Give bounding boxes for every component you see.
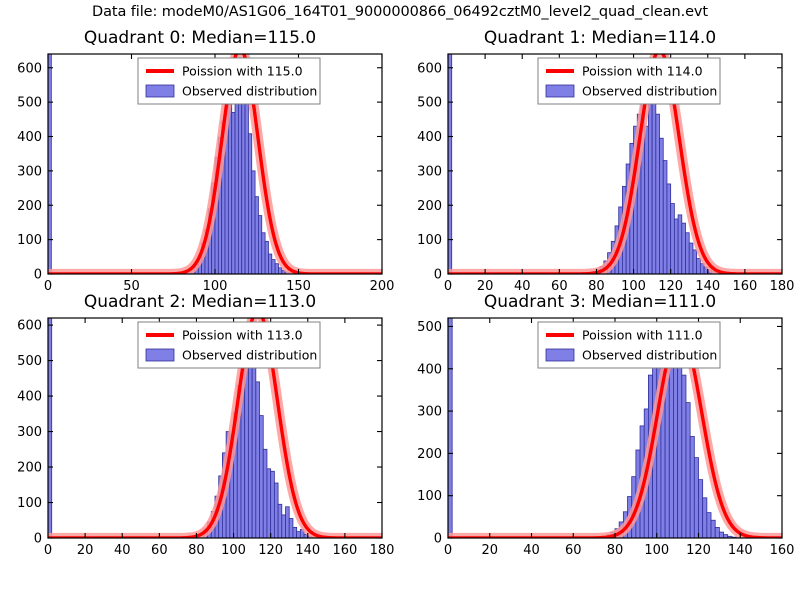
legend[interactable]: Poission with 114.0Observed distribution (538, 58, 720, 104)
subplot-title: Quadrant 3: Median=111.0 (400, 292, 800, 312)
subplot-title: Quadrant 2: Median=113.0 (0, 292, 400, 312)
subplot-quadrant-2: Quadrant 2: Median=113.00204060801001201… (0, 292, 400, 564)
y-tick-label: 500 (417, 96, 442, 111)
x-tick-label: 120 (686, 543, 711, 558)
y-tick-label: 300 (17, 164, 42, 179)
legend-patch-swatch (546, 349, 574, 361)
plot-area-quadrant-0: 0501001502000100200300400500600Poission … (0, 28, 400, 300)
x-tick-label: 40 (523, 543, 540, 558)
legend-entry-label: Poission with 113.0 (182, 328, 303, 343)
y-tick-label: 600 (17, 61, 42, 76)
legend-entry-label: Poission with 111.0 (582, 328, 703, 343)
x-tick-label: 100 (644, 543, 669, 558)
subplot-title: Quadrant 0: Median=115.0 (0, 28, 400, 48)
y-tick-label: 500 (17, 354, 42, 369)
x-tick-label: 160 (332, 543, 357, 558)
y-tick-label: 100 (417, 233, 442, 248)
x-tick-label: 140 (295, 543, 320, 558)
x-tick-label: 140 (728, 543, 753, 558)
x-tick-label: 120 (258, 543, 283, 558)
x-tick-label: 20 (77, 543, 94, 558)
y-tick-label: 0 (34, 268, 42, 283)
plot-area-quadrant-2: 0204060801001201401601800100200300400500… (0, 292, 400, 564)
x-tick-label: 80 (607, 543, 624, 558)
y-tick-label: 0 (34, 532, 42, 547)
x-tick-label: 60 (565, 543, 582, 558)
matplotlib-figure: Data file: modeM0/AS1G06_164T01_90000008… (0, 0, 800, 600)
x-tick-label: 0 (44, 543, 52, 558)
y-tick-label: 300 (17, 425, 42, 440)
y-tick-label: 300 (417, 405, 442, 420)
y-tick-label: 200 (17, 199, 42, 214)
y-tick-label: 500 (417, 320, 442, 335)
legend[interactable]: Poission with 113.0Observed distribution (138, 322, 320, 368)
plot-area-quadrant-1: 0204060801001201401601800100200300400500… (400, 28, 800, 300)
legend-entry-label: Poission with 115.0 (182, 64, 303, 79)
y-tick-label: 200 (17, 461, 42, 476)
y-tick-label: 600 (17, 319, 42, 334)
plot-area-quadrant-3: 0204060801001201401600100200300400500Poi… (400, 292, 800, 564)
legend-entry-label: Observed distribution (182, 84, 317, 99)
x-tick-label: 160 (770, 543, 795, 558)
legend-patch-swatch (546, 85, 574, 97)
legend-patch-swatch (146, 85, 174, 97)
legend-entry-label: Observed distribution (182, 348, 317, 363)
y-tick-label: 600 (417, 61, 442, 76)
y-tick-label: 200 (417, 447, 442, 462)
legend-entry-label: Observed distribution (582, 348, 717, 363)
legend[interactable]: Poission with 111.0Observed distribution (538, 322, 720, 368)
legend-entry-label: Poission with 114.0 (582, 64, 703, 79)
x-tick-label: 60 (151, 543, 168, 558)
y-tick-label: 0 (434, 532, 442, 547)
x-tick-label: 0 (444, 543, 452, 558)
subplot-quadrant-1: Quadrant 1: Median=114.00204060801001201… (400, 28, 800, 300)
subplot-quadrant-0: Quadrant 0: Median=115.00501001502000100… (0, 28, 400, 300)
y-tick-label: 300 (417, 164, 442, 179)
subplot-title: Quadrant 1: Median=114.0 (400, 28, 800, 48)
y-tick-label: 100 (417, 489, 442, 504)
y-tick-label: 100 (17, 496, 42, 511)
y-tick-label: 0 (434, 268, 442, 283)
y-tick-label: 200 (417, 199, 442, 214)
legend-entry-label: Observed distribution (582, 84, 717, 99)
x-tick-label: 80 (188, 543, 205, 558)
x-tick-label: 180 (370, 543, 395, 558)
x-tick-label: 100 (221, 543, 246, 558)
y-tick-label: 400 (417, 362, 442, 377)
legend[interactable]: Poission with 115.0Observed distribution (138, 58, 320, 104)
y-tick-label: 500 (17, 96, 42, 111)
subplot-quadrant-3: Quadrant 3: Median=111.00204060801001201… (400, 292, 800, 564)
x-tick-label: 20 (481, 543, 498, 558)
legend-patch-swatch (146, 349, 174, 361)
figure-suptitle: Data file: modeM0/AS1G06_164T01_90000008… (0, 4, 800, 20)
y-tick-label: 400 (17, 390, 42, 405)
y-tick-label: 400 (417, 130, 442, 145)
y-tick-label: 400 (17, 130, 42, 145)
y-tick-label: 100 (17, 233, 42, 248)
x-tick-label: 40 (114, 543, 131, 558)
